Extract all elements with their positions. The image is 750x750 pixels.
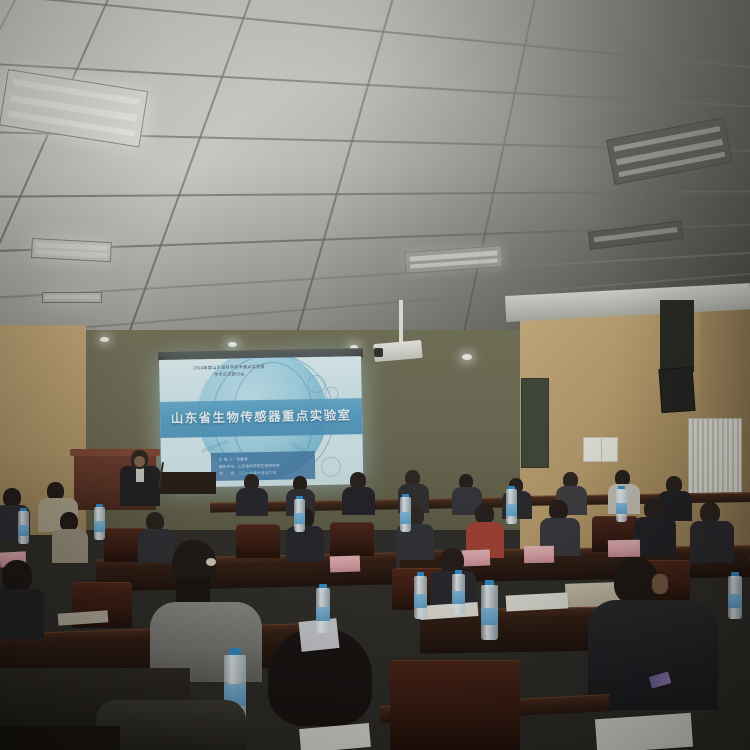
water-bottle [616, 486, 627, 522]
projector-mount-pole [399, 300, 403, 344]
wall-panel [521, 378, 549, 468]
downlight [228, 342, 237, 347]
water-bottle [481, 580, 498, 638]
name-card [330, 555, 361, 572]
chair [330, 522, 374, 556]
slide-header: 2016年度山东省科学技术重点实验室 学术交流研讨会 [173, 364, 285, 380]
phone-screen [649, 671, 672, 688]
slide-title: 山东省生物传感器重点实验室 [160, 404, 362, 427]
slide-info-line-1: 汇 报 人：刘春波 [219, 457, 248, 463]
slide-info-line-2: 报告单位：山东省科学院生物研究所 [219, 464, 280, 470]
chair-foreground [390, 660, 520, 750]
wall-notice [583, 437, 618, 462]
loudspeaker-upper [660, 300, 694, 372]
chair [236, 524, 280, 558]
water-bottle [452, 570, 465, 614]
head-table [156, 472, 216, 494]
document-paper [506, 592, 569, 611]
foreground-shadow [0, 726, 120, 750]
name-card [608, 540, 640, 558]
water-bottle [400, 494, 411, 532]
water-bottle [94, 504, 105, 540]
water-bottle [294, 496, 305, 532]
downlight [462, 354, 472, 360]
document-paper [299, 723, 371, 750]
conference-room-photo: 2016年度山东省科学技术重点实验室 学术交流研讨会 山东省生物传感器重点实验室… [0, 0, 750, 750]
presenter-face [134, 456, 145, 467]
projection-screen: 2016年度山东省科学技术重点实验室 学术交流研讨会 山东省生物传感器重点实验室… [159, 356, 363, 488]
water-bottle [18, 508, 29, 544]
name-card [524, 546, 554, 564]
radiator-panel [688, 418, 742, 498]
name-card [462, 550, 491, 567]
loudspeaker-box [659, 367, 696, 413]
water-bottle [506, 486, 517, 524]
presenter-shirt [136, 468, 144, 482]
notebook-page [595, 713, 693, 750]
face [652, 574, 668, 594]
downlight [100, 337, 109, 342]
water-bottle [316, 584, 330, 632]
water-bottle [728, 572, 742, 618]
hair-clip [206, 558, 216, 566]
projector-lens [374, 348, 383, 357]
water-bottle [414, 572, 427, 618]
